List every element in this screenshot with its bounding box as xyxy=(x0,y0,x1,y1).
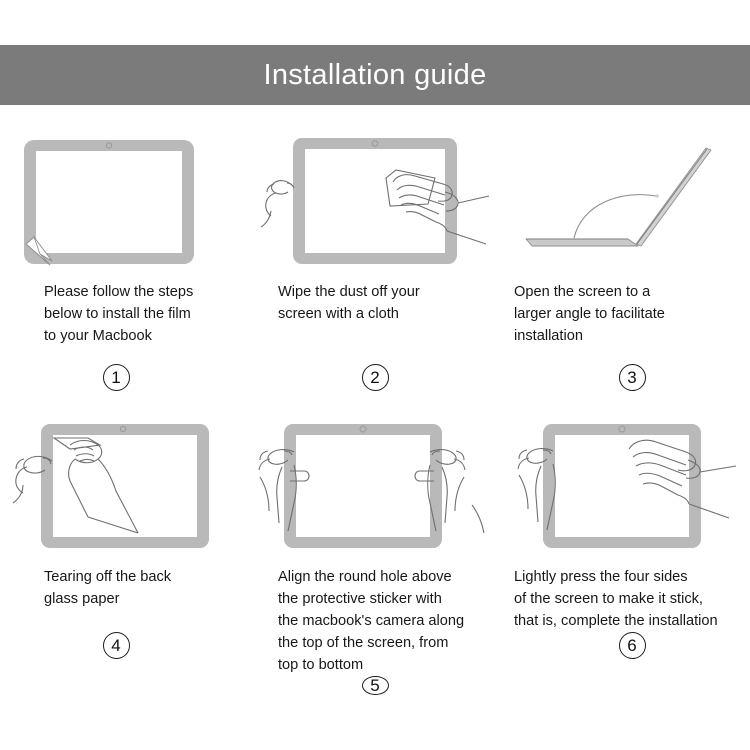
step-caption-5: Align the round hole above the protectiv… xyxy=(250,566,500,676)
step-number-badge-6: 6 xyxy=(619,632,646,659)
illustration-two-hands-aligning-film xyxy=(260,419,490,554)
step-number-badge-4: 4 xyxy=(103,632,130,659)
step-card-2: Wipe the dust off your screen with a clo… xyxy=(250,130,500,415)
step-caption-2: Wipe the dust off your screen with a clo… xyxy=(250,281,500,325)
caption-line: below to install the film xyxy=(44,303,250,325)
step-caption-4: Tearing off the back glass paper xyxy=(0,566,250,610)
illustration-laptop-side-profile-opening xyxy=(510,134,740,269)
step-card-6: Lightly press the four sides of the scre… xyxy=(500,415,750,705)
caption-line: Align the round hole above xyxy=(278,566,500,588)
illustration-screen-with-peeling-corner xyxy=(10,134,240,269)
step-caption-6: Lightly press the four sides of the scre… xyxy=(500,566,750,632)
step-card-4: Tearing off the back glass paper 4 xyxy=(0,415,250,705)
step-number-badge-3: 3 xyxy=(619,364,646,391)
caption-line: that is, complete the installation xyxy=(514,610,750,632)
step-number-badge-1: 1 xyxy=(103,364,130,391)
caption-line: of the screen to make it stick, xyxy=(514,588,750,610)
caption-line: the top of the screen, from xyxy=(278,632,500,654)
caption-line: glass paper xyxy=(44,588,250,610)
step-card-5: Align the round hole above the protectiv… xyxy=(250,415,500,705)
caption-line: larger angle to facilitate xyxy=(514,303,750,325)
caption-line: top to bottom xyxy=(278,654,500,676)
installation-guide-page: Installation guide Please follow the ste… xyxy=(0,0,750,750)
page-title: Installation guide xyxy=(263,61,486,90)
step-caption-1: Please follow the steps below to install… xyxy=(0,281,250,347)
caption-line: the protective sticker with xyxy=(278,588,500,610)
caption-line: the macbook's camera along xyxy=(278,610,500,632)
caption-line: Wipe the dust off your xyxy=(278,281,500,303)
caption-line: screen with a cloth xyxy=(278,303,500,325)
caption-line: installation xyxy=(514,325,750,347)
illustration-hand-pressing-film-onto-screen xyxy=(510,419,740,554)
caption-line: Please follow the steps xyxy=(44,281,250,303)
caption-line: Open the screen to a xyxy=(514,281,750,303)
caption-line: to your Macbook xyxy=(44,325,250,347)
illustration-hand-wiping-screen-with-cloth xyxy=(260,134,490,269)
step-card-1: Please follow the steps below to install… xyxy=(0,130,250,415)
step-number-badge-5: 5 xyxy=(362,676,389,695)
illustration-hand-peeling-back-paper xyxy=(10,419,240,554)
step-caption-3: Open the screen to a larger angle to fac… xyxy=(500,281,750,347)
step-card-3: Open the screen to a larger angle to fac… xyxy=(500,130,750,415)
header-band: Installation guide xyxy=(0,45,750,105)
caption-line: Lightly press the four sides xyxy=(514,566,750,588)
steps-grid: Please follow the steps below to install… xyxy=(0,130,750,705)
step-number-badge-2: 2 xyxy=(362,364,389,391)
caption-line: Tearing off the back xyxy=(44,566,250,588)
